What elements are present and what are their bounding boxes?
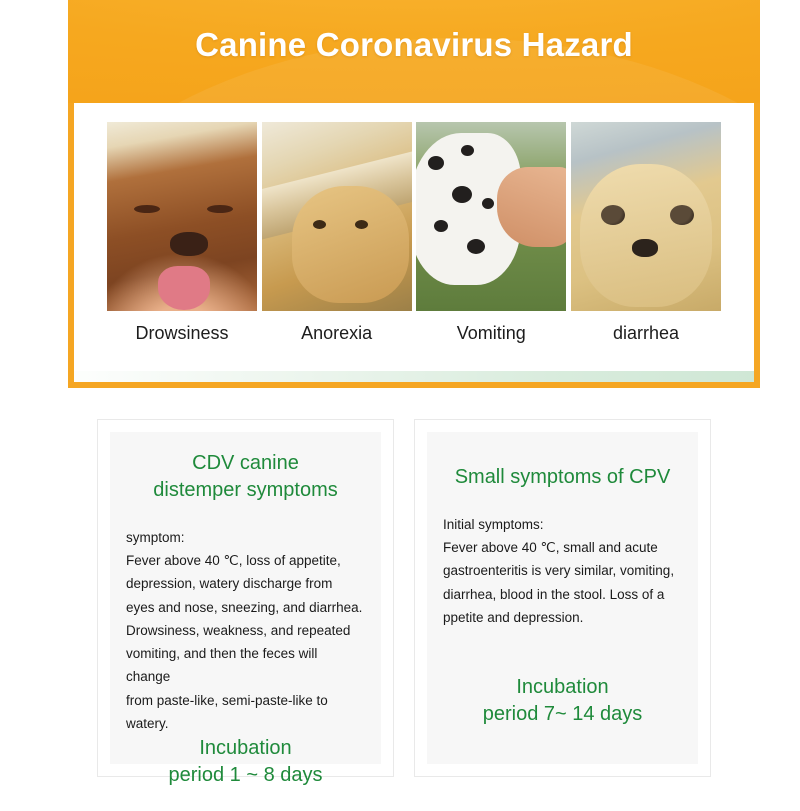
card-body-line: Fever above 40 ℃, loss of appetite,: [126, 549, 365, 572]
card-body: Initial symptoms: Fever above 40 ℃, smal…: [443, 513, 682, 674]
card-body-line: ppetite and depression.: [443, 606, 682, 629]
symptom-gallery-frame: Drowsiness Anorexia: [68, 103, 760, 388]
card-body-lead: symptom:: [126, 526, 365, 549]
page-title: Canine Coronavirus Hazard: [68, 26, 760, 64]
golden-puppy-chewing-stick-photo: [262, 122, 412, 311]
gallery-item-vomiting[interactable]: Vomiting: [416, 122, 566, 352]
gallery-caption: Vomiting: [457, 323, 526, 344]
card-incubation-line1: Incubation: [516, 676, 608, 698]
card-body-lead: Initial symptoms:: [443, 513, 682, 536]
small-fluffy-puppy-photo: [571, 122, 721, 311]
gallery-item-drowsiness[interactable]: Drowsiness: [107, 122, 257, 352]
card-cdv-distemper: CDV canine distemper symptoms symptom: F…: [97, 419, 394, 777]
card-body-line: eyes and nose, sneezing, and diarrhea.: [126, 596, 365, 619]
card-inner: Small symptoms of CPV Initial symptoms: …: [427, 432, 698, 764]
card-inner: CDV canine distemper symptoms symptom: F…: [110, 432, 381, 764]
card-title: Small symptoms of CPV: [443, 450, 682, 491]
card-incubation-line2: period 1 ~ 8 days: [126, 762, 365, 789]
card-body-line: Drowsiness, weakness, and repeated: [126, 619, 365, 642]
card-title: CDV canine distemper symptoms: [126, 450, 365, 504]
brown-dog-yawning-photo: [107, 122, 257, 311]
card-incubation: Incubation period 7~ 14 days: [443, 674, 682, 750]
dalmatian-with-hand-photo: [416, 122, 566, 311]
page-banner: Canine Coronavirus Hazard: [68, 0, 760, 103]
gallery-item-anorexia[interactable]: Anorexia: [262, 122, 412, 352]
card-body-line: from paste-like, semi-paste-like to wate…: [126, 689, 365, 735]
panel-bottom-band: [74, 371, 754, 382]
gallery-caption: Anorexia: [301, 323, 372, 344]
card-cpv-symptoms: Small symptoms of CPV Initial symptoms: …: [414, 419, 711, 777]
gallery-caption: Drowsiness: [135, 323, 228, 344]
card-title-line1: CDV canine: [192, 452, 299, 474]
card-body: symptom: Fever above 40 ℃, loss of appet…: [126, 526, 365, 735]
card-body-line: gastroenteritis is very similar, vomitin…: [443, 559, 682, 582]
card-title-line1: Small symptoms of CPV: [455, 466, 671, 488]
info-cards: CDV canine distemper symptoms symptom: F…: [97, 419, 711, 779]
card-incubation-line1: Incubation: [199, 737, 291, 759]
symptom-gallery-row: Drowsiness Anorexia: [74, 122, 754, 352]
gallery-caption: diarrhea: [613, 323, 679, 344]
symptom-gallery-panel: Drowsiness Anorexia: [74, 103, 754, 382]
card-body-line: depression, watery discharge from: [126, 572, 365, 595]
card-body-line: diarrhea, blood in the stool. Loss of a: [443, 583, 682, 606]
card-body-line: Fever above 40 ℃, small and acute: [443, 536, 682, 559]
card-title-line2: distemper symptoms: [153, 479, 338, 501]
gallery-item-diarrhea[interactable]: diarrhea: [571, 122, 721, 352]
card-body-line: vomiting, and then the feces will change: [126, 642, 365, 688]
card-incubation-line2: period 7~ 14 days: [443, 701, 682, 728]
